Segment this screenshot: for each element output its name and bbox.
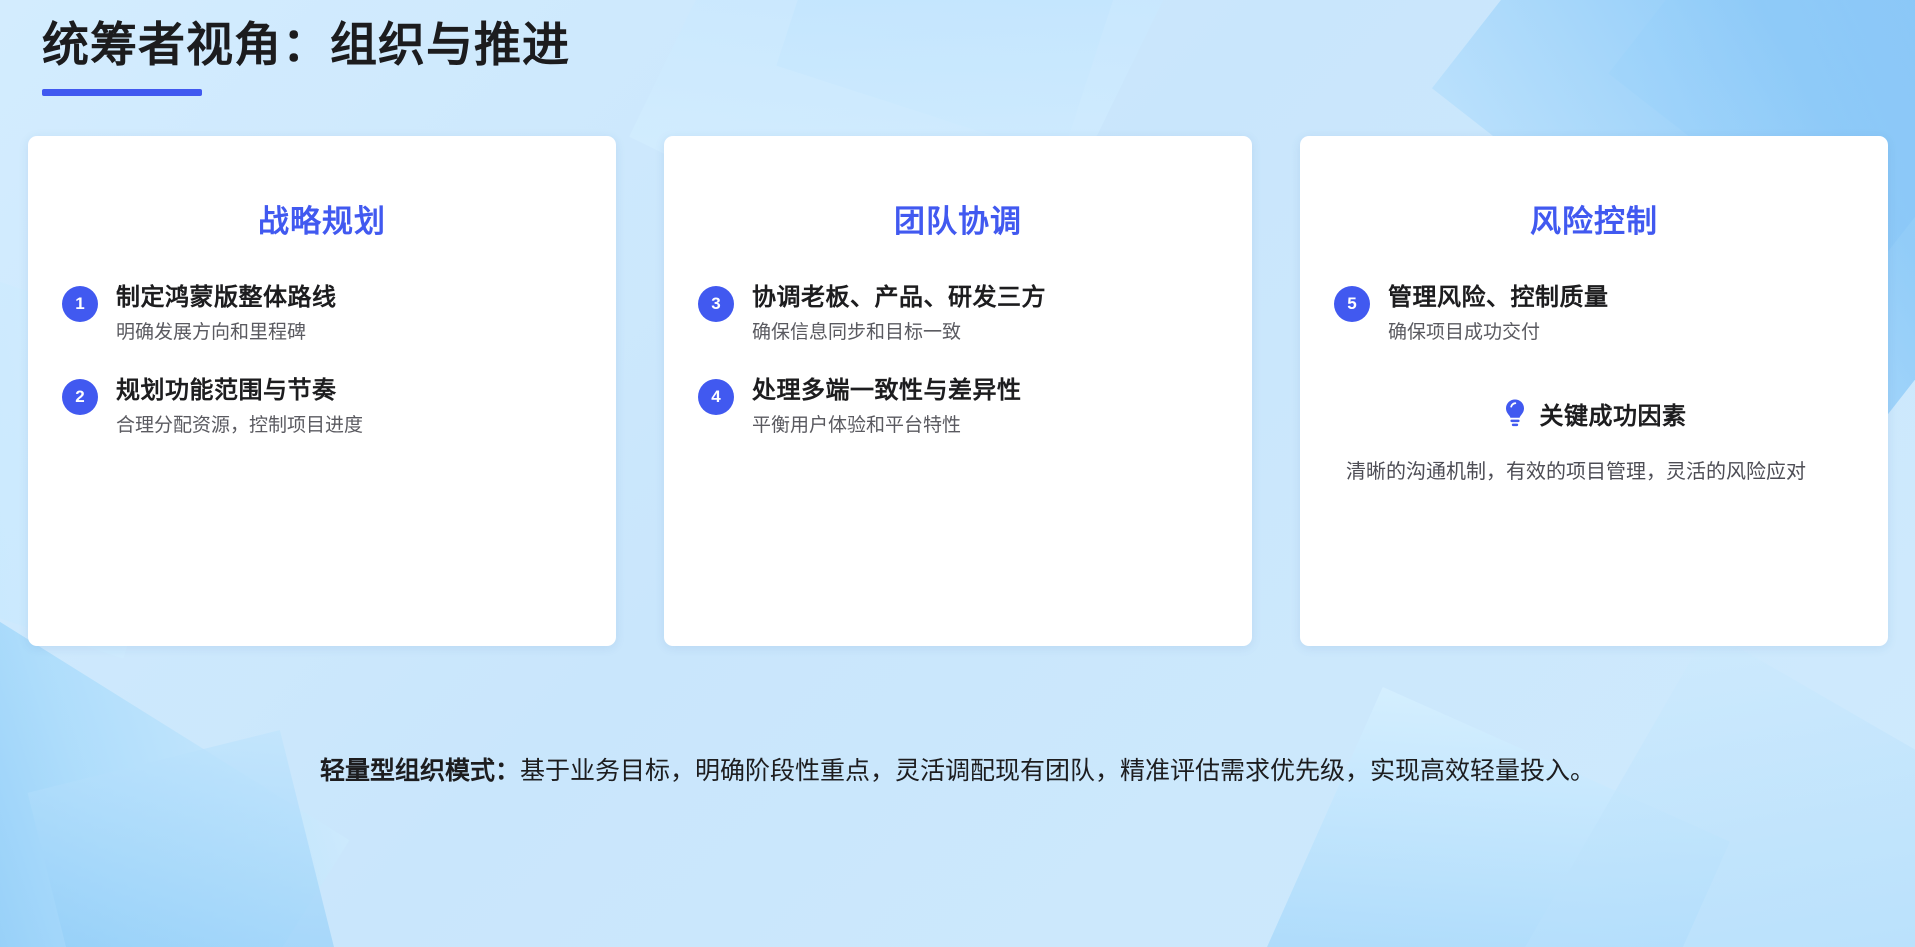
card-title: 战略规划 — [62, 196, 582, 241]
item-number-badge: 4 — [698, 379, 734, 415]
item-subtitle: 确保信息同步和目标一致 — [752, 320, 1046, 346]
item-subtitle: 明确发展方向和里程碑 — [116, 320, 337, 346]
slide-root: 统筹者视角：组织与推进 战略规划 1 制定鸿蒙版整体路线 明确发展方向和里程碑 … — [0, 0, 1915, 947]
item-subtitle: 确保项目成功交付 — [1388, 320, 1609, 346]
item-number-badge: 3 — [698, 286, 734, 322]
item-title: 规划功能范围与节奏 — [116, 376, 363, 406]
card-row: 战略规划 1 制定鸿蒙版整体路线 明确发展方向和里程碑 2 规划功能范围与节奏 … — [28, 136, 1888, 646]
item-number-badge: 5 — [1334, 286, 1370, 322]
key-success-factors-block: 关键成功因素 清晰的沟通机制，有效的项目管理，灵活的风险应对 — [1334, 396, 1854, 488]
decorative-polygon-bottom-right-1 — [1220, 687, 1730, 947]
item-title: 制定鸿蒙版整体路线 — [116, 283, 337, 313]
list-item: 2 规划功能范围与节奏 合理分配资源，控制项目进度 — [62, 376, 582, 439]
list-item: 4 处理多端一致性与差异性 平衡用户体验和平台特性 — [698, 376, 1218, 439]
item-title: 管理风险、控制质量 — [1388, 283, 1609, 313]
title-underline-rule — [42, 89, 202, 96]
card-item-list: 1 制定鸿蒙版整体路线 明确发展方向和里程碑 2 规划功能范围与节奏 合理分配资… — [62, 283, 582, 438]
item-title: 协调老板、产品、研发三方 — [752, 283, 1046, 313]
lightbulb-icon — [1502, 398, 1528, 428]
footer-note-text: 基于业务目标，明确阶段性重点，灵活调配现有团队，精准评估需求优先级，实现高效轻量… — [520, 757, 1595, 785]
item-body: 协调老板、产品、研发三方 确保信息同步和目标一致 — [752, 283, 1046, 346]
card-title: 团队协调 — [698, 196, 1218, 241]
key-success-factors-header: 关键成功因素 — [1334, 396, 1854, 431]
item-title: 处理多端一致性与差异性 — [752, 376, 1022, 406]
item-body: 管理风险、控制质量 确保项目成功交付 — [1388, 283, 1609, 346]
item-number-badge: 2 — [62, 379, 98, 415]
card-strategy-planning: 战略规划 1 制定鸿蒙版整体路线 明确发展方向和里程碑 2 规划功能范围与节奏 … — [28, 136, 616, 646]
page-title: 统筹者视角：组织与推进 — [42, 16, 570, 75]
item-body: 规划功能范围与节奏 合理分配资源，控制项目进度 — [116, 376, 363, 439]
card-risk-control: 风险控制 5 管理风险、控制质量 确保项目成功交付 — [1300, 136, 1888, 646]
card-title: 风险控制 — [1334, 196, 1854, 241]
list-item: 3 协调老板、产品、研发三方 确保信息同步和目标一致 — [698, 283, 1218, 346]
item-body: 处理多端一致性与差异性 平衡用户体验和平台特性 — [752, 376, 1022, 439]
decorative-polygon-top-middle-2 — [776, 0, 1163, 158]
card-item-list: 5 管理风险、控制质量 确保项目成功交付 — [1334, 283, 1854, 346]
key-success-factors-title: 关键成功因素 — [1540, 396, 1687, 431]
card-item-list: 3 协调老板、产品、研发三方 确保信息同步和目标一致 4 处理多端一致性与差异性… — [698, 283, 1218, 438]
footer-note: 轻量型组织模式：基于业务目标，明确阶段性重点，灵活调配现有团队，精准评估需求优先… — [0, 748, 1915, 794]
card-team-coordination: 团队协调 3 协调老板、产品、研发三方 确保信息同步和目标一致 4 处理多端一致… — [664, 136, 1252, 646]
item-number-badge: 1 — [62, 286, 98, 322]
item-subtitle: 平衡用户体验和平台特性 — [752, 413, 1022, 439]
slide-header: 统筹者视角：组织与推进 — [42, 16, 570, 96]
item-body: 制定鸿蒙版整体路线 明确发展方向和里程碑 — [116, 283, 337, 346]
key-success-factors-text: 清晰的沟通机制，有效的项目管理，灵活的风险应对 — [1334, 457, 1854, 488]
list-item: 5 管理风险、控制质量 确保项目成功交付 — [1334, 283, 1854, 346]
footer-note-label: 轻量型组织模式： — [320, 757, 520, 785]
item-subtitle: 合理分配资源，控制项目进度 — [116, 413, 363, 439]
list-item: 1 制定鸿蒙版整体路线 明确发展方向和里程碑 — [62, 283, 582, 346]
